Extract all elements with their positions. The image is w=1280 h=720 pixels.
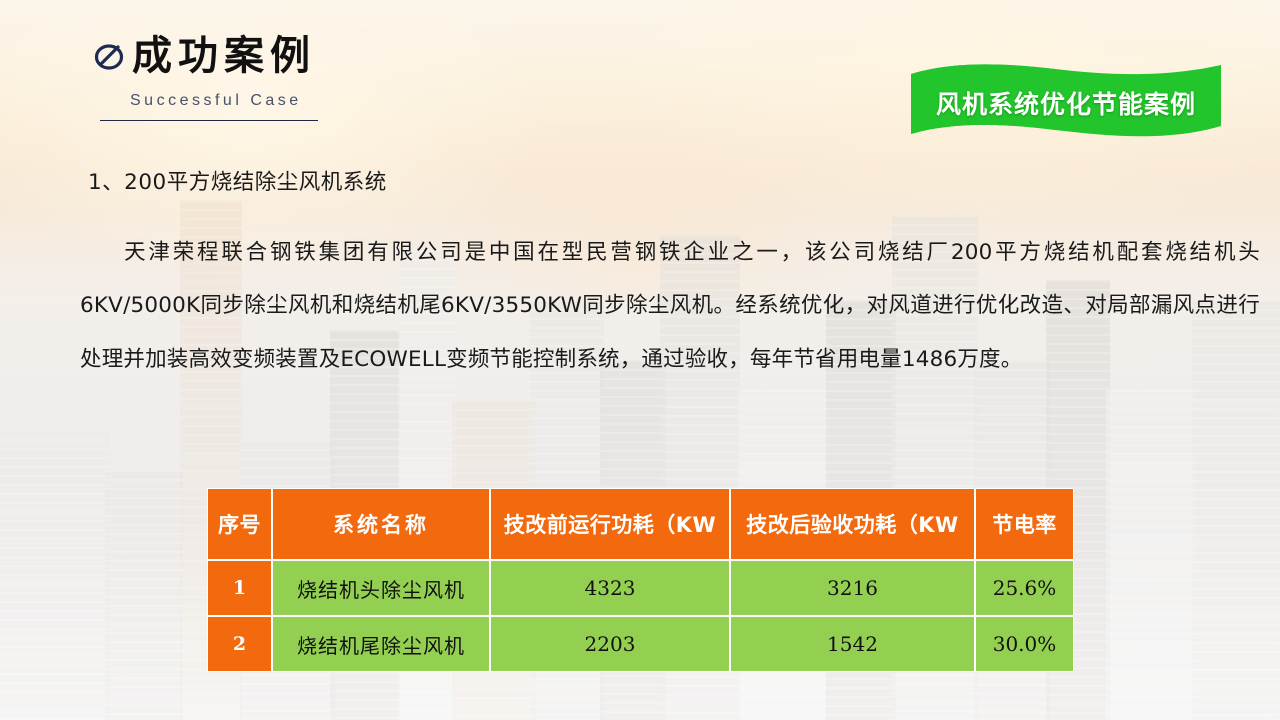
page-title: 成功案例 xyxy=(132,36,316,76)
cell-before: 2203 xyxy=(490,616,730,672)
column-header-index: 序号 xyxy=(207,488,272,560)
body-paragraph: 天津荣程联合钢铁集团有限公司是中国在型民营钢铁企业之一，该公司烧结厂200平方烧… xyxy=(80,226,1260,386)
slashed-circle-icon xyxy=(92,39,126,73)
section-heading: 1、200平方烧结除尘风机系统 xyxy=(88,165,1280,196)
column-header-after: 技改后验收功耗（KW xyxy=(730,488,975,560)
cell-saving: 30.0% xyxy=(975,616,1074,672)
cell-after: 3216 xyxy=(730,560,975,616)
title-divider xyxy=(100,120,318,121)
section-ribbon-banner: 风机系统优化节能案例 xyxy=(905,60,1227,144)
slide-body: 1、200平方烧结除尘风机系统 天津荣程联合钢铁集团有限公司是中国在型民营钢铁企… xyxy=(0,165,1280,386)
cell-index: 1 xyxy=(207,560,272,616)
table-header-row: 序号 系统名称 技改前运行功耗（KW 技改后验收功耗（KW 节电率 xyxy=(207,488,1074,560)
page-title-row: 成功案例 xyxy=(92,36,316,76)
column-header-before: 技改前运行功耗（KW xyxy=(490,488,730,560)
cell-name: 烧结机尾除尘风机 xyxy=(272,616,490,672)
ribbon-label: 风机系统优化节能案例 xyxy=(905,60,1227,144)
cell-index: 2 xyxy=(207,616,272,672)
results-table: 序号 系统名称 技改前运行功耗（KW 技改后验收功耗（KW 节电率 1 烧结机头… xyxy=(207,488,1074,672)
cell-before: 4323 xyxy=(490,560,730,616)
table-row: 1 烧结机头除尘风机 4323 3216 25.6% xyxy=(207,560,1074,616)
column-header-name: 系统名称 xyxy=(272,488,490,560)
table-row: 2 烧结机尾除尘风机 2203 1542 30.0% xyxy=(207,616,1074,672)
cell-name: 烧结机头除尘风机 xyxy=(272,560,490,616)
cell-after: 1542 xyxy=(730,616,975,672)
page-subtitle: Successful Case xyxy=(130,92,302,110)
cell-saving: 25.6% xyxy=(975,560,1074,616)
column-header-saving: 节电率 xyxy=(975,488,1074,560)
